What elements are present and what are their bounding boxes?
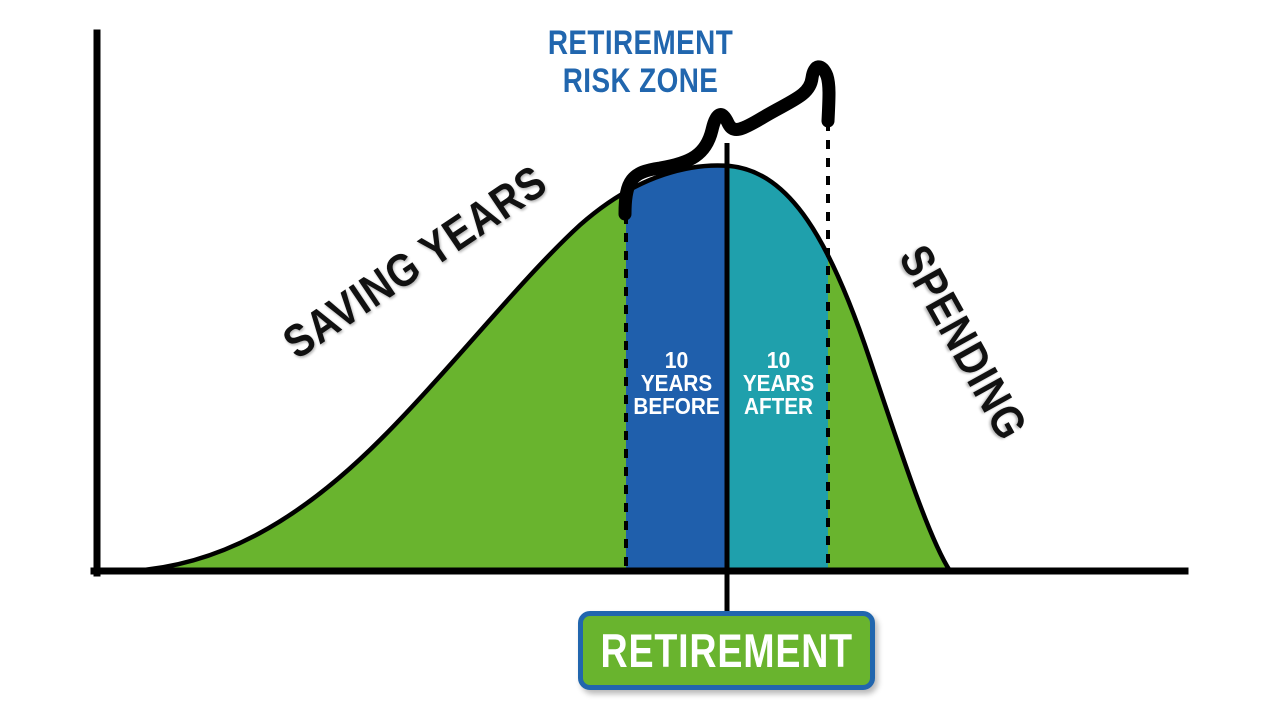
infographic-canvas: RETIREMENT RISK ZONE SAVING YEARS SPENDI… bbox=[0, 0, 1281, 720]
title-line-2: RISK ZONE bbox=[115, 64, 1165, 99]
band-after-relation: AFTER bbox=[734, 395, 823, 418]
band-label-10-years-before: 10 YEARS BEFORE bbox=[627, 349, 726, 418]
band-after-number: 10 bbox=[733, 349, 824, 372]
band-before-number: 10 bbox=[631, 349, 722, 372]
retirement-button[interactable]: RETIREMENT bbox=[578, 611, 875, 690]
band-label-10-years-after: 10 YEARS AFTER bbox=[729, 349, 828, 418]
retirement-button-label: RETIREMENT bbox=[600, 623, 852, 678]
title-line-1: RETIREMENT bbox=[115, 26, 1165, 61]
band-after-unit: YEARS bbox=[734, 372, 823, 395]
band-before-relation: BEFORE bbox=[632, 395, 721, 418]
band-before-unit: YEARS bbox=[632, 372, 721, 395]
